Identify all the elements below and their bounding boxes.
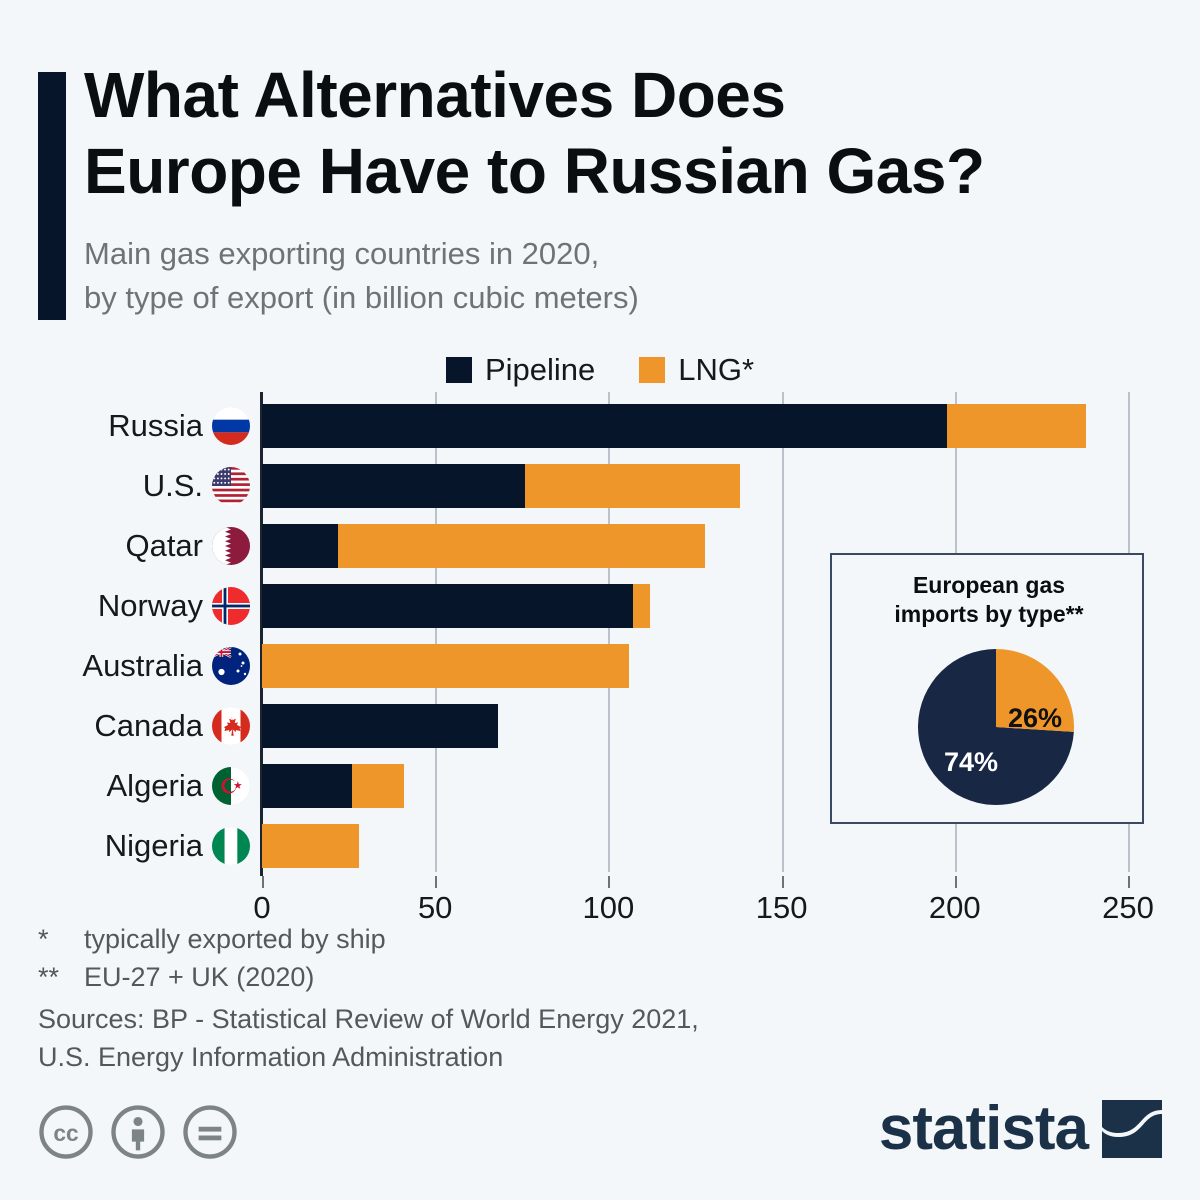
footnote-1-text: typically exported by ship: [84, 920, 386, 958]
flag-icon-australia: [212, 647, 250, 685]
pie-label-lng: 26%: [1008, 703, 1062, 734]
flag-icon-us: [212, 467, 250, 505]
flag-icon-qatar: [212, 527, 250, 565]
gridline-150: [782, 392, 784, 872]
svg-text:cc: cc: [53, 1120, 78, 1146]
header: What Alternatives Does Europe Have to Ru…: [0, 0, 1200, 340]
footnote-2-text: EU-27 + UK (2020): [84, 958, 314, 996]
statista-wordmark: statista: [879, 1098, 1088, 1160]
bar-segment-lng[interactable]: [262, 824, 359, 868]
footnote-1-mark: *: [38, 920, 84, 958]
category-label-qatar: Qatar: [50, 524, 250, 568]
creative-commons-icons: cc: [38, 1104, 238, 1160]
category-label-nigeria: Nigeria: [50, 824, 250, 868]
bar-segment-lng[interactable]: [262, 644, 629, 688]
attribution-person-icon[interactable]: [110, 1104, 166, 1160]
bar-segment-lng[interactable]: [525, 464, 740, 508]
bar-segment-lng[interactable]: [338, 524, 705, 568]
statista-mark-icon: [1102, 1100, 1162, 1158]
category-label-russia: Russia: [50, 404, 250, 448]
footnote-2-mark: **: [38, 958, 84, 996]
category-label-algeria: Algeria: [50, 764, 250, 808]
category-name: Russia: [108, 408, 203, 444]
flag-icon-norway: [212, 587, 250, 625]
pie-inset-panel: European gas imports by type** 26% 74%: [830, 553, 1144, 824]
sources-text: Sources: BP - Statistical Review of Worl…: [38, 1000, 878, 1077]
page-title: What Alternatives Does Europe Have to Ru…: [84, 58, 1144, 209]
category-label-canada: Canada: [50, 704, 250, 748]
legend-label-pipeline: Pipeline: [485, 352, 595, 388]
legend-swatch-pipeline: [446, 357, 472, 383]
pie-inset-title: European gas imports by type**: [832, 571, 1146, 630]
category-name: Norway: [98, 588, 203, 624]
bar-row[interactable]: [262, 464, 740, 508]
category-name: Nigeria: [105, 828, 203, 864]
bar-segment-pipeline[interactable]: [262, 524, 338, 568]
bar-segment-pipeline[interactable]: [262, 764, 352, 808]
x-tick-200: [955, 876, 957, 888]
category-name: Qatar: [125, 528, 203, 564]
page-subtitle: Main gas exporting countries in 2020, by…: [84, 232, 1144, 320]
bar-row[interactable]: [262, 524, 705, 568]
statista-logo[interactable]: statista: [879, 1098, 1162, 1160]
x-tick-250: [1128, 876, 1130, 888]
bar-segment-lng[interactable]: [352, 764, 404, 808]
category-label-australia: Australia: [50, 644, 250, 688]
category-name: Canada: [94, 708, 203, 744]
x-tick-100: [608, 876, 610, 888]
category-name: Algeria: [107, 768, 204, 804]
bar-segment-pipeline[interactable]: [262, 404, 947, 448]
category-label-norway: Norway: [50, 584, 250, 628]
footnote-1: * typically exported by ship: [38, 920, 858, 958]
legend-label-lng: LNG*: [678, 352, 754, 388]
x-tick-50: [435, 876, 437, 888]
category-label-us: U.S.: [50, 464, 250, 508]
footnote-2: ** EU-27 + UK (2020): [38, 958, 858, 996]
flag-icon-nigeria: [212, 827, 250, 865]
flag-icon-canada: [212, 707, 250, 745]
no-derivatives-equals-icon[interactable]: [182, 1104, 238, 1160]
flag-icon-russia: [212, 407, 250, 445]
chart-legend: Pipeline LNG*: [0, 352, 1200, 388]
footnotes: * typically exported by ship ** EU-27 + …: [38, 920, 858, 997]
bar-segment-lng[interactable]: [947, 404, 1087, 448]
x-tick-label-250: 250: [1102, 890, 1154, 926]
bar-segment-pipeline[interactable]: [262, 464, 525, 508]
legend-item-lng[interactable]: LNG*: [639, 352, 754, 388]
bar-segment-lng[interactable]: [633, 584, 650, 628]
x-tick-label-200: 200: [929, 890, 981, 926]
bar-row[interactable]: [262, 704, 498, 748]
x-tick-150: [782, 876, 784, 888]
cc-icon[interactable]: cc: [38, 1104, 94, 1160]
pie-chart: 26% 74%: [916, 647, 1076, 807]
bar-row[interactable]: [262, 644, 629, 688]
accent-bar: [38, 72, 66, 320]
bar-segment-pipeline[interactable]: [262, 584, 633, 628]
bar-row[interactable]: [262, 584, 650, 628]
legend-item-pipeline[interactable]: Pipeline: [446, 352, 595, 388]
legend-swatch-lng: [639, 357, 665, 383]
x-tick-0: [262, 876, 264, 888]
category-name: Australia: [82, 648, 203, 684]
bar-row[interactable]: [262, 764, 404, 808]
bar-row[interactable]: [262, 404, 1086, 448]
category-name: U.S.: [143, 468, 203, 504]
bar-segment-pipeline[interactable]: [262, 704, 498, 748]
flag-icon-algeria: [212, 767, 250, 805]
bar-row[interactable]: [262, 824, 359, 868]
pie-label-pipeline: 74%: [944, 747, 998, 778]
